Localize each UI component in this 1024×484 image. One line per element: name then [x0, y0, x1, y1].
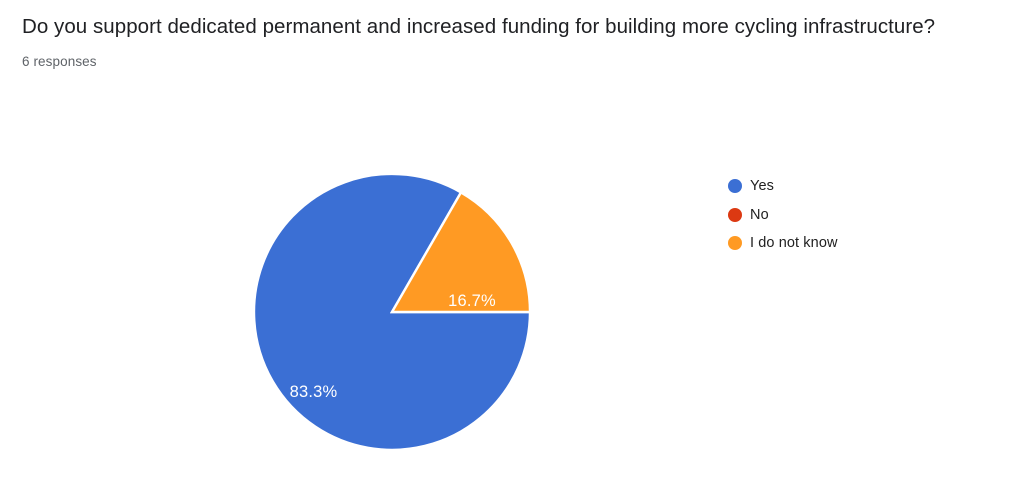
- pie-chart: 83.3% 16.7%: [254, 174, 530, 450]
- legend-swatch-circle-icon: [728, 179, 742, 193]
- legend-item-i-do-not-know[interactable]: I do not know: [728, 229, 958, 258]
- legend-item-label: No: [750, 206, 769, 224]
- chart-page: Do you support dedicated permanent and i…: [0, 0, 1024, 484]
- page-title: Do you support dedicated permanent and i…: [22, 10, 987, 44]
- response-count-label: 6 responses: [22, 53, 987, 71]
- pie-slice-label-i-do-not-know: 16.7%: [448, 292, 496, 310]
- legend-item-no[interactable]: No: [728, 201, 958, 230]
- legend-swatch-circle-icon: [728, 236, 742, 250]
- pie-chart-svg: 83.3% 16.7%: [254, 174, 530, 450]
- chart-legend: Yes No I do not know: [728, 172, 958, 258]
- legend-item-yes[interactable]: Yes: [728, 172, 958, 201]
- pie-slice-label-yes: 83.3%: [290, 383, 338, 401]
- pie-chart-container: 83.3% 16.7% Yes No I do not know: [0, 128, 1024, 484]
- legend-item-label: Yes: [750, 177, 774, 195]
- question-header: Do you support dedicated permanent and i…: [22, 10, 987, 71]
- legend-item-label: I do not know: [750, 234, 838, 252]
- legend-swatch-circle-icon: [728, 208, 742, 222]
